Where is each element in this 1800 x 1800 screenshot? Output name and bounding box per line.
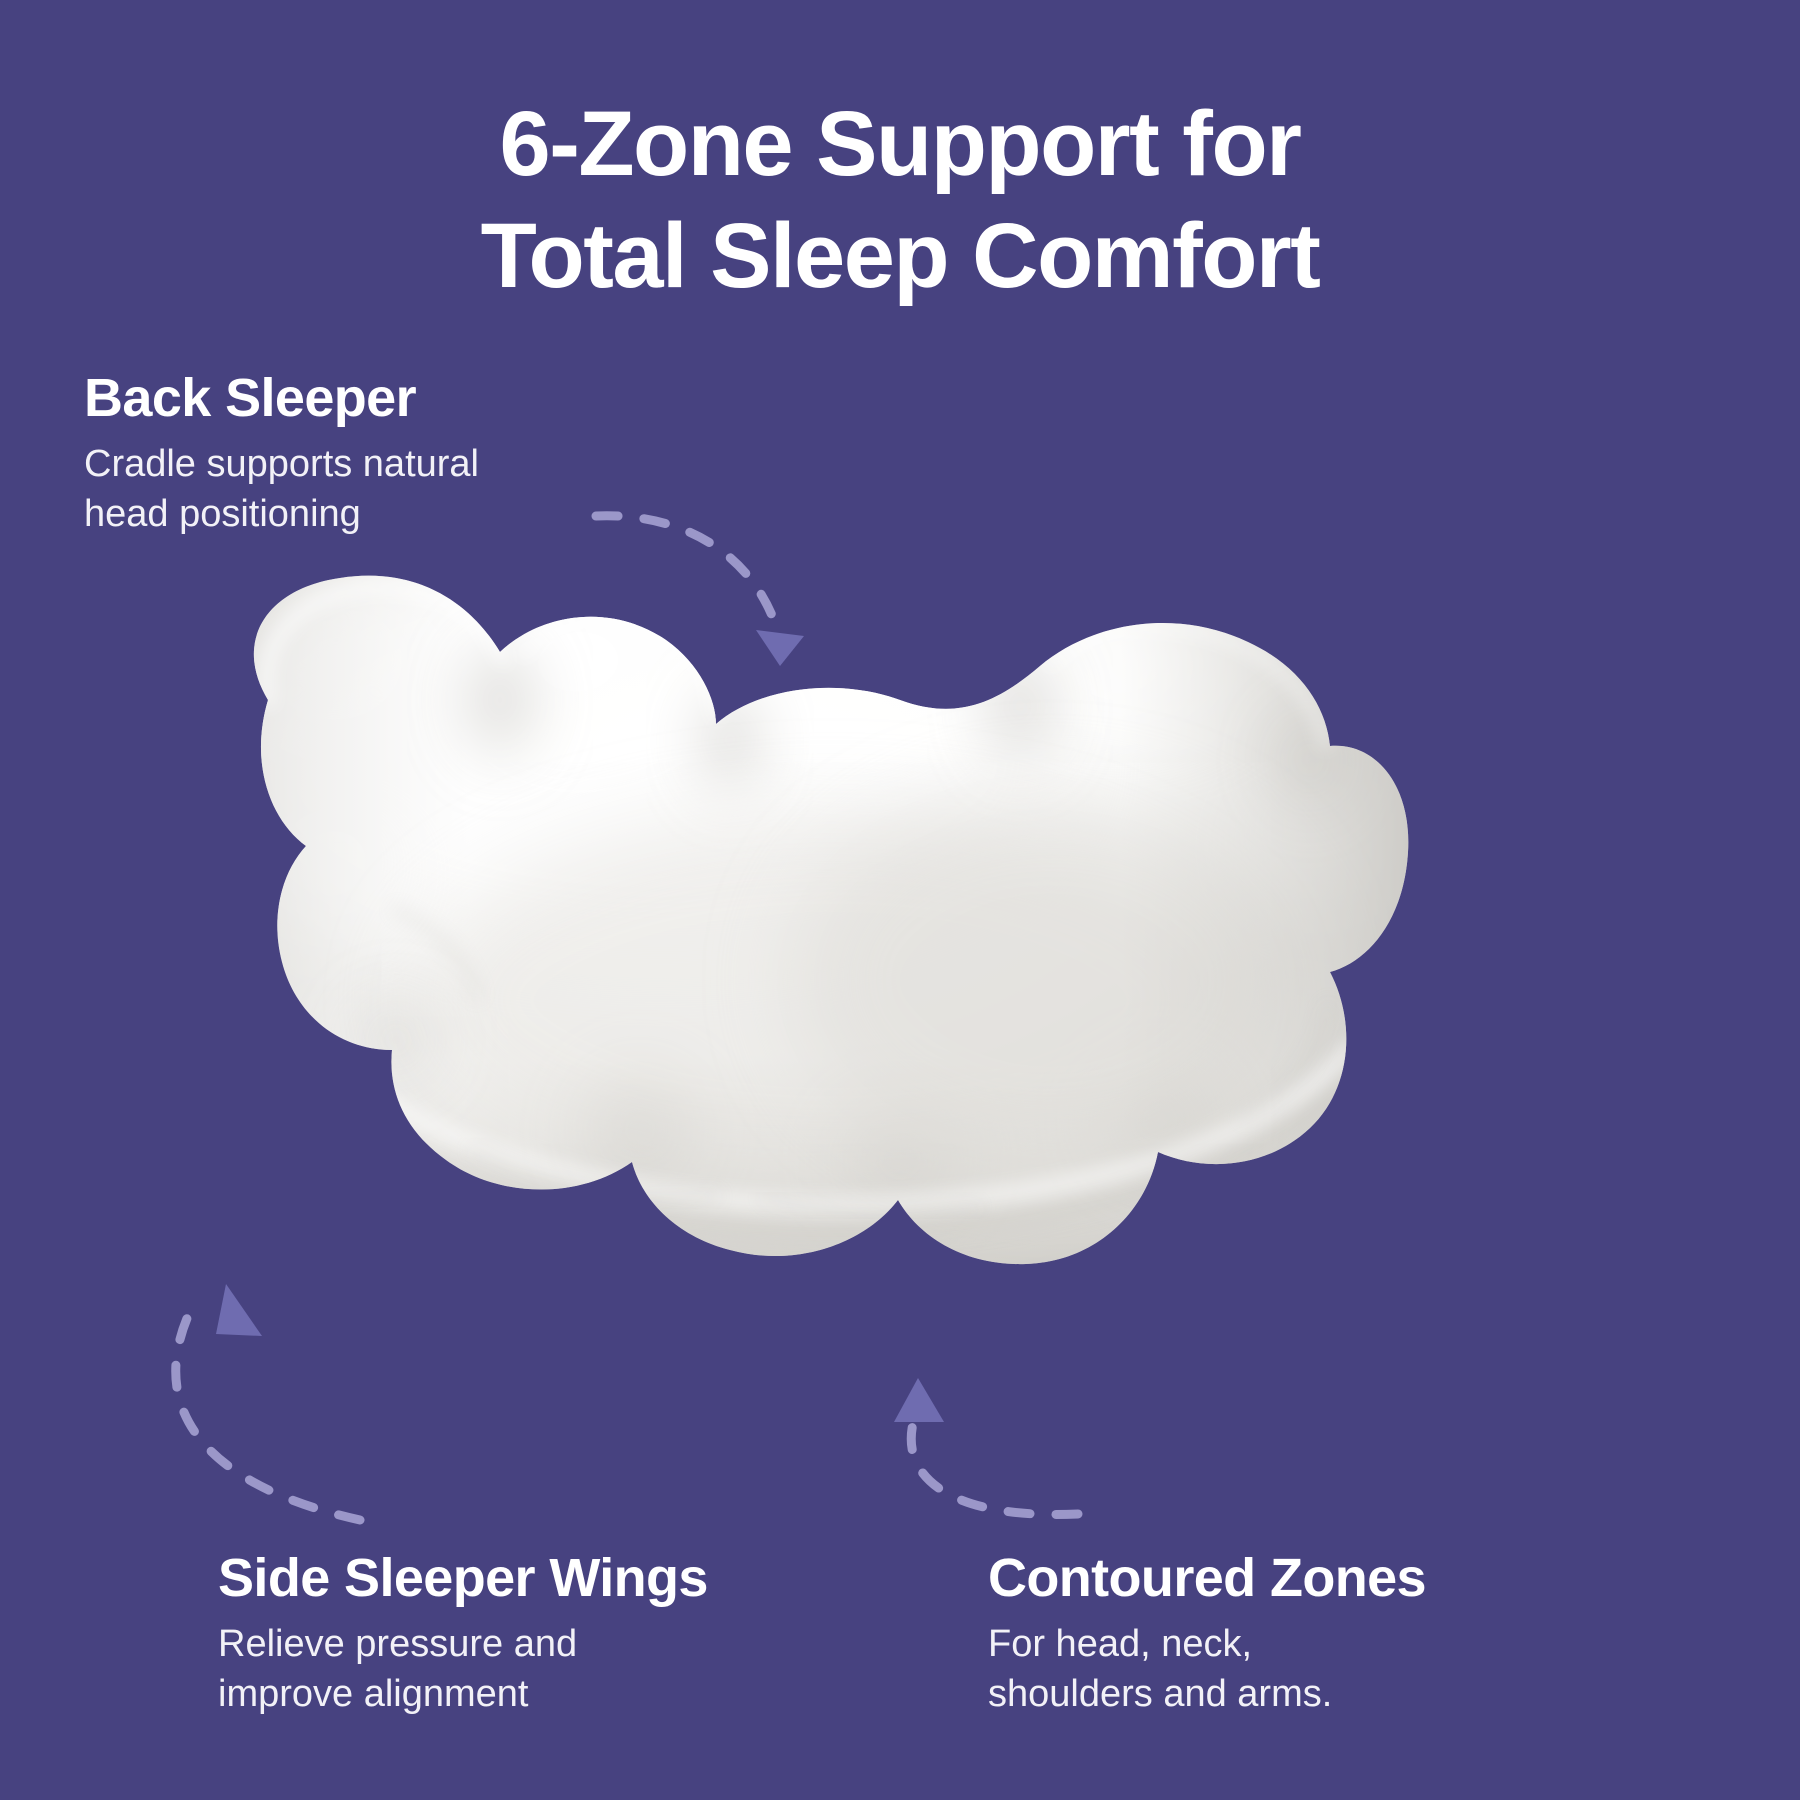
page-title: 6-Zone Support for Total Sleep Comfort	[0, 88, 1800, 312]
headline-line-1: 6-Zone Support for	[500, 93, 1301, 195]
callout-side-sleeper-wings-title: Side Sleeper Wings	[218, 1548, 708, 1608]
callout-side-sleeper-wings-desc-line-1: Relieve pressure and	[218, 1620, 708, 1669]
callout-back-sleeper-desc-line-1: Cradle supports natural	[84, 440, 479, 489]
arrowhead-back-sleeper	[756, 630, 804, 666]
callout-side-sleeper-wings-description: Relieve pressure and improve alignment	[218, 1620, 708, 1719]
callout-contoured-zones-title: Contoured Zones	[988, 1548, 1426, 1608]
callout-back-sleeper-title: Back Sleeper	[84, 368, 479, 428]
callout-side-sleeper-wings: Side Sleeper Wings Relieve pressure and …	[218, 1548, 708, 1719]
arrowhead-contoured-zones	[894, 1378, 944, 1422]
callout-back-sleeper: Back Sleeper Cradle supports natural hea…	[84, 368, 479, 539]
callout-back-sleeper-description: Cradle supports natural head positioning	[84, 440, 479, 539]
callout-contoured-zones-desc-line-1: For head, neck,	[988, 1620, 1426, 1669]
callout-contoured-zones-desc-line-2: shoulders and arms.	[988, 1670, 1426, 1719]
callout-contoured-zones-description: For head, neck, shoulders and arms.	[988, 1620, 1426, 1719]
infographic-poster: 6-Zone Support for Total Sleep Comfort B…	[0, 0, 1800, 1800]
arrow-contoured-zones	[894, 1378, 1078, 1514]
arrow-back-sleeper	[596, 516, 804, 666]
headline-line-2: Total Sleep Comfort	[0, 200, 1800, 312]
callout-back-sleeper-desc-line-2: head positioning	[84, 490, 479, 539]
arrowhead-side-wings	[216, 1284, 262, 1336]
callout-side-sleeper-wings-desc-line-2: improve alignment	[218, 1670, 708, 1719]
arrow-side-wings	[176, 1284, 360, 1520]
callout-contoured-zones: Contoured Zones For head, neck, shoulder…	[988, 1548, 1426, 1719]
